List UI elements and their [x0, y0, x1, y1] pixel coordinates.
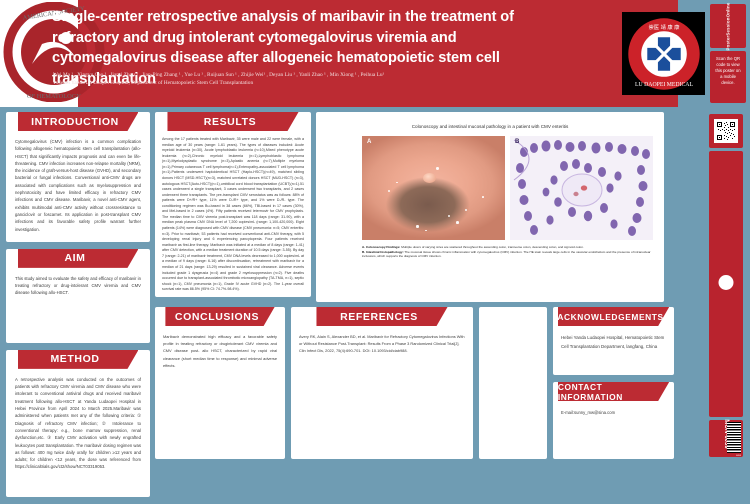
figure-images: A — [362, 136, 653, 240]
histopathology-image: B — [510, 136, 653, 240]
method-heading: METHOD — [50, 353, 99, 365]
figure-caption: A. Colonoscopy Findings: Multiple ulcers… — [362, 245, 652, 259]
contact-email: E-mail:sunny_mw@sina.com — [553, 401, 674, 424]
caption-b-title: B. Intestinal histopathology: — [362, 250, 404, 254]
figure-title: Colonoscopy and intestinal mucosal patho… — [316, 124, 664, 129]
introduction-heading: INTRODUCTION — [31, 116, 119, 128]
method-panel: METHOD A retrospective analysis was cond… — [6, 350, 150, 497]
lu-daopei-medical-logo: 崇医 靖 康 康 LU DAOPEI MEDICAL — [622, 12, 705, 95]
contact-panel: CONTACT INFORMATION E-mail:sunny_mw@sina… — [553, 382, 674, 459]
aim-text: This study aimed to evaluate the safety … — [6, 268, 150, 343]
results-panel: RESULTS Among the 17 patients treated wi… — [155, 112, 311, 297]
acknowledgements-text: Hebei Yanda Ludaopei Hospital, Hematopoi… — [553, 326, 674, 359]
svg-text:LU DAOPEI MEDICAL: LU DAOPEI MEDICAL — [635, 81, 693, 87]
barcode-number: 6059 — [736, 455, 741, 457]
qr-code-image — [714, 119, 738, 143]
barcode-icon — [727, 422, 741, 453]
introduction-text: Cytomegalovirus (CMV) infection is a com… — [6, 131, 150, 242]
right-rail: American Society of Hematology Helping h… — [706, 112, 746, 459]
svg-text:OF HEMATOLOGY: OF HEMATOLOGY — [27, 93, 81, 100]
poster-header: AMERICAN SOCIETY OF HEMATOLOGY Single-ce… — [0, 0, 750, 107]
figure-panel: Colonoscopy and intestinal mucosal patho… — [316, 112, 664, 302]
contact-heading: CONTACT INFORMATION — [558, 382, 663, 402]
aim-header: AIM — [6, 249, 150, 268]
conclusions-panel: CONCLUSIONS Maribavir demonstrated high … — [155, 307, 285, 459]
poster-session-online-badge: PosterSessionOnline — [710, 4, 746, 48]
spacer-panel — [479, 307, 547, 459]
caption-b-line: B. Intestinal histopathology: The mucosa… — [362, 250, 652, 259]
pod-badge-label: PosterSessionOnline — [726, 2, 731, 50]
results-text: Among the 17 patients treated with Marib… — [155, 131, 311, 297]
caption-b-text: The mucosal tissue shows chronic inflamm… — [362, 250, 651, 259]
poster-code-badge: MON-6059 6059 — [709, 420, 743, 457]
results-heading: RESULTS — [204, 116, 256, 128]
method-header: METHOD — [6, 350, 150, 369]
references-heading: REFERENCES — [340, 311, 418, 323]
contact-header: CONTACT INFORMATION — [553, 382, 674, 401]
poster-canvas: AMERICAN SOCIETY OF HEMATOLOGY Single-ce… — [0, 0, 750, 465]
scan-qr-instruction: Scan the QR code to view this poster on … — [710, 51, 746, 103]
conclusions-header: CONCLUSIONS — [155, 307, 285, 326]
colonoscopy-image: A — [362, 136, 505, 240]
qr-code-badge[interactable] — [709, 114, 743, 148]
panel-b-label: B — [515, 139, 519, 145]
acknowledgements-heading: ACKNOWLEDGEMENTS — [557, 312, 663, 322]
affiliation-line: 1.Hebei Yanda Lu Daopei Hospital, Depart… — [53, 80, 583, 86]
histology-svg — [510, 136, 653, 240]
introduction-panel: INTRODUCTION Cytomegalovirus (CMV) infec… — [6, 112, 150, 242]
references-header: REFERENCES — [291, 307, 473, 326]
conclusions-heading: CONCLUSIONS — [175, 311, 259, 323]
caption-a-text: Multiple ulcers of varying sizes are sca… — [400, 245, 584, 249]
left-column: INTRODUCTION Cytomegalovirus (CMV) infec… — [6, 112, 150, 504]
rail-session-title: 722. Allogeneic Transplantation: Long-te… — [709, 153, 710, 415]
results-header: RESULTS — [155, 112, 311, 131]
conclusions-text: Maribavir demonstrated high efficacy and… — [155, 326, 285, 376]
references-text: Avery RK, Alain S, Alexander BD, et al. … — [291, 326, 473, 362]
aim-panel: AIM This study aimed to evaluate the saf… — [6, 249, 150, 343]
introduction-header: INTRODUCTION — [6, 112, 150, 131]
ash-rail-mark-icon — [719, 275, 734, 290]
author-list: Wei Ma ¹ , Xingyu Cao ¹ , Jiarui Zhou ¹ … — [53, 70, 583, 80]
references-panel: REFERENCES Avery RK, Alain S, Alexander … — [291, 307, 473, 459]
aim-heading: AIM — [64, 252, 85, 264]
acknowledgements-header: ACKNOWLEDGEMENTS — [553, 307, 674, 326]
caption-a-title: A. Colonoscopy Findings: — [362, 245, 400, 249]
results-column: RESULTS Among the 17 patients treated wi… — [155, 112, 311, 304]
acknowledgements-panel: ACKNOWLEDGEMENTS Hebei Yanda Ludaopei Ho… — [553, 307, 674, 375]
panel-a-label: A — [367, 139, 371, 145]
method-text: A retrospective analysis was conducted o… — [6, 369, 150, 497]
rail-session-bar: American Society of Hematology Helping h… — [709, 151, 743, 417]
